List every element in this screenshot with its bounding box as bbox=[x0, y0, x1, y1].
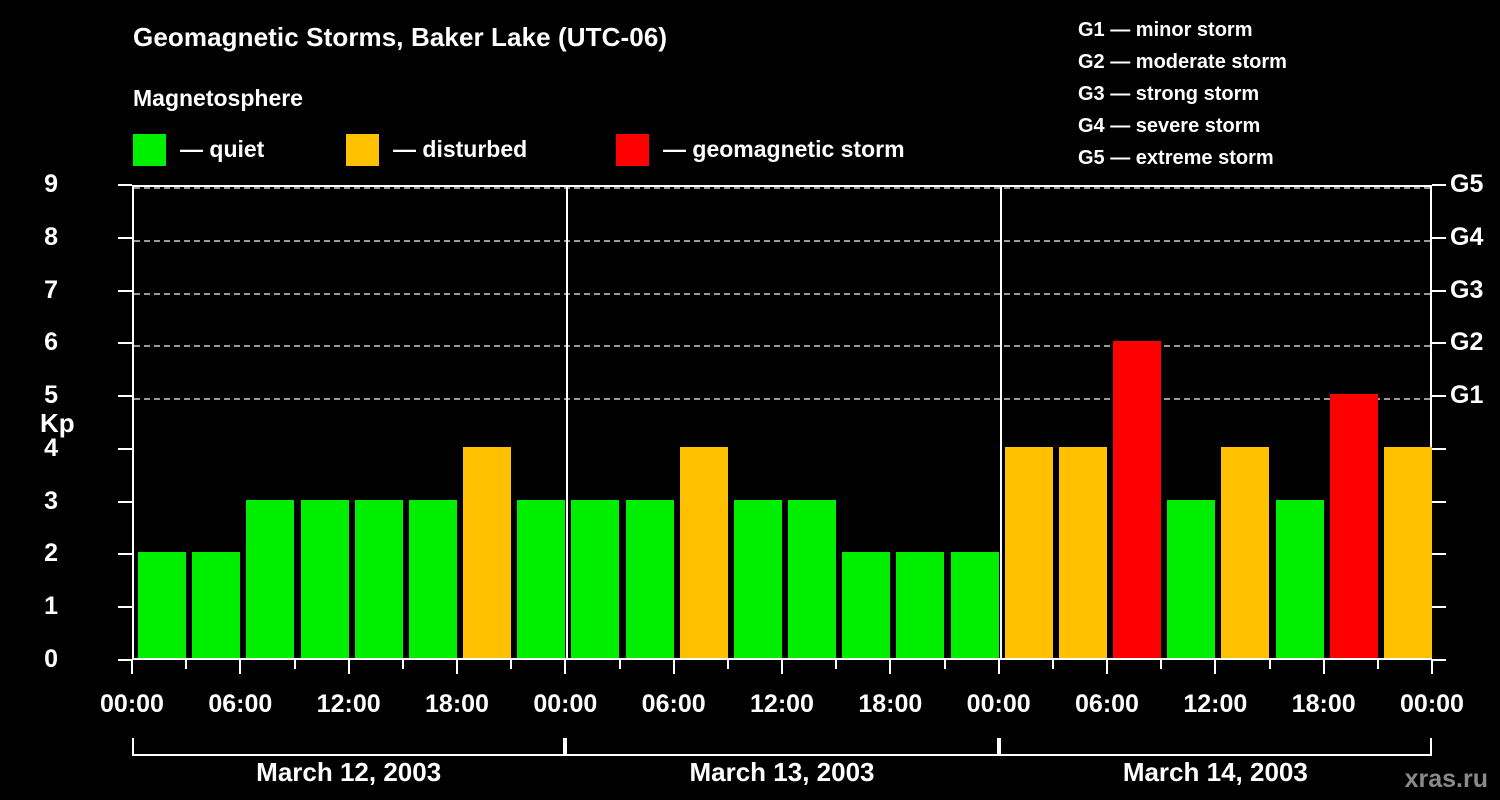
bar-kp[interactable] bbox=[301, 500, 349, 658]
x-tick-major-12 bbox=[781, 660, 783, 674]
bar-kp[interactable] bbox=[788, 500, 836, 658]
x-tick-label-2: 12:00 bbox=[317, 690, 381, 719]
x-tick-minor-19 bbox=[1160, 660, 1162, 669]
g-minor-tick-3 bbox=[1432, 501, 1446, 503]
gridline-kp-9 bbox=[134, 187, 1430, 189]
gridline-kp-5 bbox=[134, 398, 1430, 400]
x-tick-major-22 bbox=[1323, 660, 1325, 674]
bar-kp[interactable] bbox=[626, 500, 674, 658]
g-tick-mark-G2 bbox=[1432, 342, 1446, 344]
x-tick-major-14 bbox=[889, 660, 891, 674]
g-tick-mark-G5 bbox=[1432, 184, 1446, 186]
g-tick-mark-G1 bbox=[1432, 395, 1446, 397]
y-tick-mark-8 bbox=[118, 237, 132, 239]
y-tick-label-6: 6 bbox=[18, 330, 58, 355]
y-tick-mark-7 bbox=[118, 290, 132, 292]
x-tick-minor-21 bbox=[1269, 660, 1271, 669]
bar-kp[interactable] bbox=[192, 552, 240, 658]
x-tick-minor-11 bbox=[727, 660, 729, 669]
x-tick-minor-23 bbox=[1377, 660, 1379, 669]
g-minor-tick-2 bbox=[1432, 553, 1446, 555]
bar-kp[interactable] bbox=[1005, 447, 1053, 658]
green-swatch bbox=[133, 134, 166, 166]
gridline-kp-6 bbox=[134, 345, 1430, 347]
bar-kp[interactable] bbox=[951, 552, 999, 658]
y-tick-mark-1 bbox=[118, 606, 132, 608]
x-tick-minor-15 bbox=[944, 660, 946, 669]
bar-kp[interactable] bbox=[734, 500, 782, 658]
g-tick-label-G3: G3 bbox=[1450, 278, 1483, 303]
x-tick-label-1: 06:00 bbox=[208, 690, 272, 719]
y-tick-mark-3 bbox=[118, 501, 132, 503]
g-minor-tick-1 bbox=[1432, 606, 1446, 608]
g-tick-label-G1: G1 bbox=[1450, 383, 1483, 408]
bar-kp[interactable] bbox=[517, 500, 565, 658]
y-tick-label-7: 7 bbox=[18, 278, 58, 303]
g-tick-mark-G3 bbox=[1432, 290, 1446, 292]
x-tick-label-6: 12:00 bbox=[750, 690, 814, 719]
legend-label: — quiet bbox=[180, 138, 264, 161]
x-tick-major-0 bbox=[131, 660, 133, 674]
day-separator bbox=[566, 187, 568, 658]
y-tick-label-4: 4 bbox=[18, 436, 58, 461]
page-title: Geomagnetic Storms, Baker Lake (UTC-06) bbox=[133, 22, 667, 53]
watermark: xras.ru bbox=[1405, 765, 1488, 794]
bar-kp[interactable] bbox=[138, 552, 186, 658]
plot-inner bbox=[134, 187, 1430, 658]
g-tick-label-G5: G5 bbox=[1450, 172, 1483, 197]
y-tick-mark-0 bbox=[118, 659, 132, 661]
x-tick-label-8: 00:00 bbox=[967, 690, 1031, 719]
g-legend-item-3: G3 — strong storm bbox=[1078, 78, 1287, 110]
y-tick-mark-6 bbox=[118, 342, 132, 344]
y-tick-label-5: 5 bbox=[18, 383, 58, 408]
bar-kp[interactable] bbox=[463, 447, 511, 658]
g-minor-tick-4 bbox=[1432, 448, 1446, 450]
x-tick-label-3: 18:00 bbox=[425, 690, 489, 719]
day-label-2: March 14, 2003 bbox=[999, 757, 1432, 788]
g-tick-mark-G4 bbox=[1432, 237, 1446, 239]
x-tick-label-5: 06:00 bbox=[642, 690, 706, 719]
bar-kp[interactable] bbox=[1221, 447, 1269, 658]
day-bracket-0 bbox=[132, 738, 565, 756]
x-tick-major-16 bbox=[998, 660, 1000, 674]
x-tick-minor-5 bbox=[402, 660, 404, 669]
day-bracket-1 bbox=[565, 738, 998, 756]
x-tick-major-2 bbox=[239, 660, 241, 674]
x-tick-minor-1 bbox=[185, 660, 187, 669]
bar-kp[interactable] bbox=[1167, 500, 1215, 658]
y-tick-mark-9 bbox=[118, 184, 132, 186]
y-tick-label-0: 0 bbox=[18, 647, 58, 672]
g-legend-item-1: G1 — minor storm bbox=[1078, 14, 1287, 46]
x-tick-major-8 bbox=[564, 660, 566, 674]
plot-area bbox=[132, 185, 1432, 660]
y-axis-title: Kp bbox=[40, 408, 75, 439]
bar-kp[interactable] bbox=[1384, 447, 1432, 658]
day-separator bbox=[1000, 187, 1002, 658]
bar-kp[interactable] bbox=[355, 500, 403, 658]
legend-item-0: — quiet bbox=[133, 133, 264, 167]
bar-kp[interactable] bbox=[409, 500, 457, 658]
x-tick-major-24 bbox=[1431, 660, 1433, 674]
g-legend-item-4: G4 — severe storm bbox=[1078, 110, 1287, 142]
day-label-0: March 12, 2003 bbox=[132, 757, 565, 788]
bar-kp[interactable] bbox=[1330, 394, 1378, 658]
bar-kp[interactable] bbox=[680, 447, 728, 658]
orange-swatch bbox=[346, 134, 379, 166]
x-tick-major-4 bbox=[348, 660, 350, 674]
x-tick-label-12: 00:00 bbox=[1400, 690, 1464, 719]
x-tick-minor-17 bbox=[1052, 660, 1054, 669]
x-tick-major-18 bbox=[1106, 660, 1108, 674]
bar-kp[interactable] bbox=[896, 552, 944, 658]
x-tick-major-20 bbox=[1214, 660, 1216, 674]
x-tick-label-7: 18:00 bbox=[858, 690, 922, 719]
y-tick-label-2: 2 bbox=[18, 541, 58, 566]
bar-kp[interactable] bbox=[1113, 341, 1161, 658]
x-tick-label-4: 00:00 bbox=[533, 690, 597, 719]
x-tick-minor-3 bbox=[294, 660, 296, 669]
x-tick-label-9: 06:00 bbox=[1075, 690, 1139, 719]
g-scale-legend: G1 — minor stormG2 — moderate stormG3 — … bbox=[1078, 14, 1287, 174]
g-tick-label-G2: G2 bbox=[1450, 330, 1483, 355]
bar-kp[interactable] bbox=[1276, 500, 1324, 658]
y-tick-label-1: 1 bbox=[18, 594, 58, 619]
legend-label: — disturbed bbox=[393, 138, 527, 161]
day-bracket-2 bbox=[999, 738, 1432, 756]
x-tick-major-6 bbox=[456, 660, 458, 674]
y-tick-label-3: 3 bbox=[18, 489, 58, 514]
x-tick-label-11: 18:00 bbox=[1292, 690, 1356, 719]
g-tick-label-G4: G4 bbox=[1450, 225, 1483, 250]
bar-kp[interactable] bbox=[842, 552, 890, 658]
y-tick-mark-2 bbox=[118, 553, 132, 555]
y-tick-label-8: 8 bbox=[18, 225, 58, 250]
g-minor-tick-0 bbox=[1432, 659, 1446, 661]
gridline-kp-7 bbox=[134, 293, 1430, 295]
chart-subtitle: Magnetosphere bbox=[133, 85, 303, 112]
y-tick-label-9: 9 bbox=[18, 172, 58, 197]
g-legend-item-5: G5 — extreme storm bbox=[1078, 142, 1287, 174]
g-legend-item-2: G2 — moderate storm bbox=[1078, 46, 1287, 78]
x-tick-minor-7 bbox=[510, 660, 512, 669]
legend-item-1: — disturbed bbox=[346, 133, 527, 167]
x-tick-label-10: 12:00 bbox=[1183, 690, 1247, 719]
x-tick-label-0: 00:00 bbox=[100, 690, 164, 719]
legend-label: — geomagnetic storm bbox=[663, 138, 905, 161]
legend-item-2: — geomagnetic storm bbox=[616, 133, 905, 167]
day-label-1: March 13, 2003 bbox=[565, 757, 998, 788]
y-tick-mark-4 bbox=[118, 448, 132, 450]
x-tick-minor-13 bbox=[835, 660, 837, 669]
red-swatch bbox=[616, 134, 649, 166]
x-tick-major-10 bbox=[673, 660, 675, 674]
bar-kp[interactable] bbox=[1059, 447, 1107, 658]
bar-kp[interactable] bbox=[571, 500, 619, 658]
x-tick-minor-9 bbox=[619, 660, 621, 669]
gridline-kp-8 bbox=[134, 240, 1430, 242]
y-tick-mark-5 bbox=[118, 395, 132, 397]
bar-kp[interactable] bbox=[246, 500, 294, 658]
